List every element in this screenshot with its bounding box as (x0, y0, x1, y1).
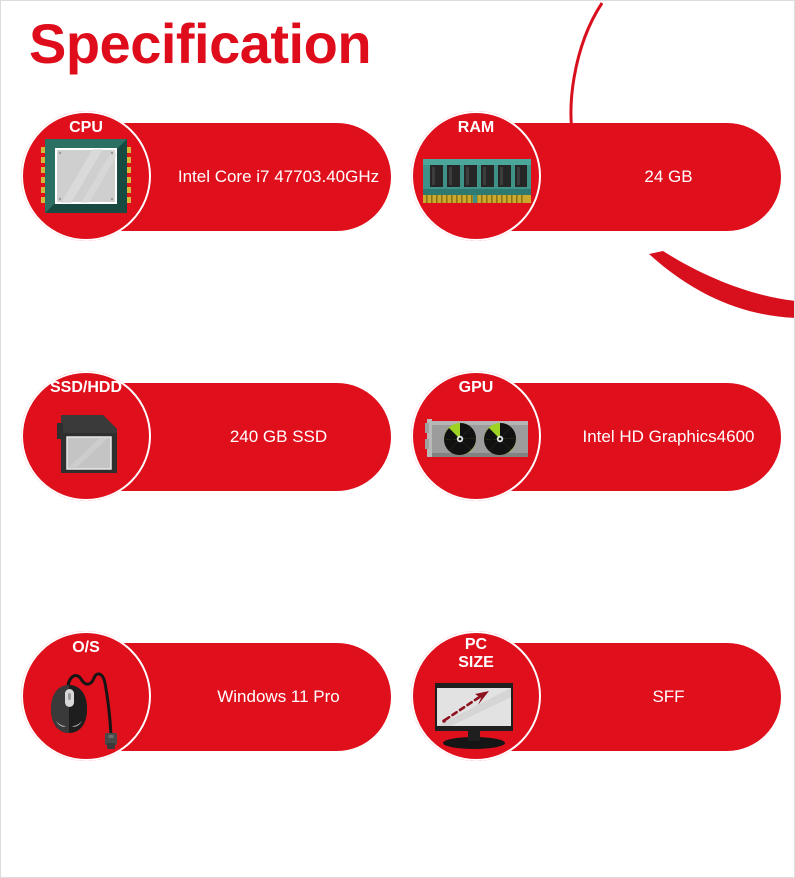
page-title: Specification (29, 15, 371, 74)
spec-row: Windows 11 Pro (1, 631, 795, 878)
spec-value-ram: 24 GB (561, 123, 776, 231)
storage-card-icon (21, 371, 151, 501)
spec-value-line: Intel Core i7 4770 (178, 166, 312, 189)
monitor-icon (411, 631, 541, 761)
spec-value-line: 4600 (717, 426, 755, 449)
spec-row: 240 GB SSD SSD/HDD Intel HD Graphics (1, 371, 795, 631)
mouse-icon (21, 631, 151, 761)
ram-module-icon (411, 111, 541, 241)
spec-value-cpu: Intel Core i7 4770 3.40GHz (171, 123, 386, 231)
graphics-card-icon (411, 371, 541, 501)
cpu-chip-icon (21, 111, 151, 241)
specification-page: Specification Intel Core i7 4770 3.40GHz (0, 0, 795, 878)
spec-value-gpu: Intel HD Graphics 4600 (561, 383, 776, 491)
spec-item-ram[interactable]: 24 GB (411, 111, 781, 241)
spec-item-cpu[interactable]: Intel Core i7 4770 3.40GHz (21, 111, 391, 241)
spec-item-os[interactable]: Windows 11 Pro (21, 631, 391, 761)
spec-item-gpu[interactable]: Intel HD Graphics 4600 (411, 371, 781, 501)
spec-item-pc-size[interactable]: SFF (411, 631, 781, 761)
spec-value-line: 3.40GHz (312, 166, 379, 189)
spec-item-storage[interactable]: 240 GB SSD SSD/HDD (21, 371, 391, 501)
spec-value-pc-size: SFF (561, 643, 776, 751)
spec-value-os: Windows 11 Pro (171, 643, 386, 751)
spec-row: Intel Core i7 4770 3.40GHz (1, 111, 795, 371)
spec-value-storage: 240 GB SSD (171, 383, 386, 491)
spec-grid: Intel Core i7 4770 3.40GHz (1, 111, 795, 878)
spec-value-line: Intel HD Graphics (583, 426, 717, 449)
